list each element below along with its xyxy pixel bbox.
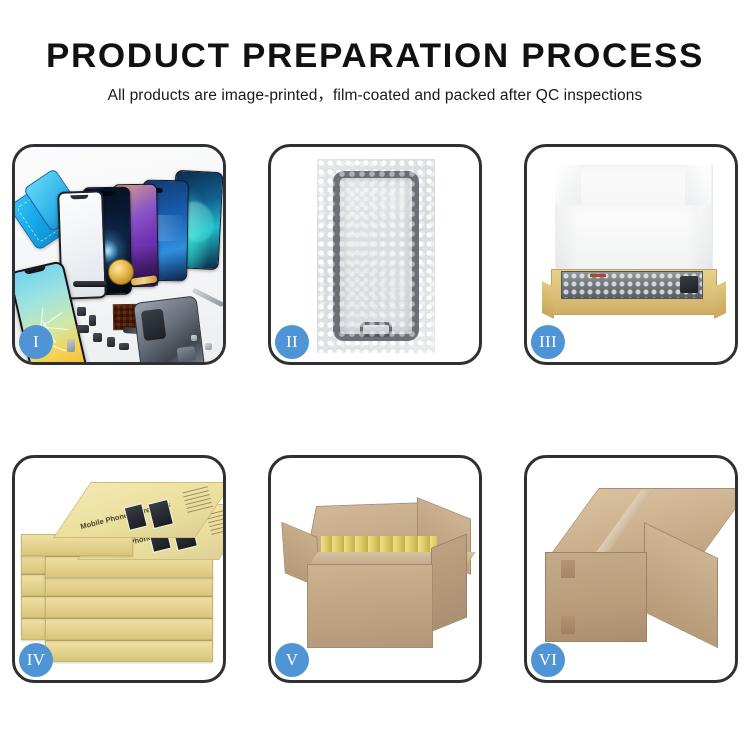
panel-5-badge: V: [275, 643, 309, 677]
process-panel-3: III: [524, 144, 738, 365]
panel-6-badge: VI: [531, 643, 565, 677]
part-tiny-7: [67, 339, 75, 352]
part-tiny-3: [77, 325, 89, 333]
stack-box-r5: [45, 640, 213, 662]
carton-side: [431, 533, 467, 632]
process-panel-1: I: [12, 144, 226, 365]
wrapped-screen-in-box: [561, 271, 703, 299]
part-tiny-9: [191, 335, 197, 341]
page-header: PRODUCT PREPARATION PROCESS All products…: [0, 0, 750, 106]
foam-lid-right: [685, 165, 711, 205]
open-carton: [281, 480, 469, 656]
process-panel-4: Mobile Phone Spare Parts Mobile Phone Sp…: [12, 455, 226, 683]
process-panel-6: VI: [524, 455, 738, 683]
stack-box-r4: [45, 618, 213, 640]
box-speclines-top: [182, 486, 213, 516]
sealed-carton: [537, 488, 725, 654]
stack-box-l1-top: Mobile Phone Spare Parts: [53, 482, 223, 538]
phone-back-housing: [133, 295, 206, 362]
part-tiny-8: [205, 343, 212, 350]
part-tiny-6: [119, 343, 129, 350]
panel-4-badge: IV: [19, 643, 53, 677]
bubble-wrap-photo: [317, 159, 435, 353]
process-panel-2: II: [268, 144, 482, 365]
part-tiny-5: [107, 337, 115, 347]
page-subtitle: All products are image-printed，film-coat…: [0, 76, 750, 106]
part-tiny-4: [93, 333, 102, 342]
carton-handle-tab-top: [561, 560, 575, 578]
page-title: PRODUCT PREPARATION PROCESS: [0, 0, 750, 76]
carton-front: [307, 564, 433, 648]
part-dark-strip: [73, 281, 107, 287]
kraft-box-open: [539, 161, 725, 347]
process-panel-5: V: [268, 455, 482, 683]
carton-handle-tab-bottom: [561, 616, 575, 634]
stack-box-r3: [45, 596, 213, 618]
panel-2-badge: II: [275, 325, 309, 359]
process-panel-grid: I II III: [12, 144, 738, 683]
part-tiny-2: [89, 315, 96, 326]
panel-1-badge: I: [19, 325, 53, 359]
foam-lid-left: [555, 165, 581, 205]
panel-3-badge: III: [531, 325, 565, 359]
part-tiny-1: [77, 307, 86, 316]
retail-box-stack: Mobile Phone Spare Parts Mobile Phone Sp…: [21, 468, 217, 668]
bubble-wrap-overlay: [317, 159, 435, 353]
